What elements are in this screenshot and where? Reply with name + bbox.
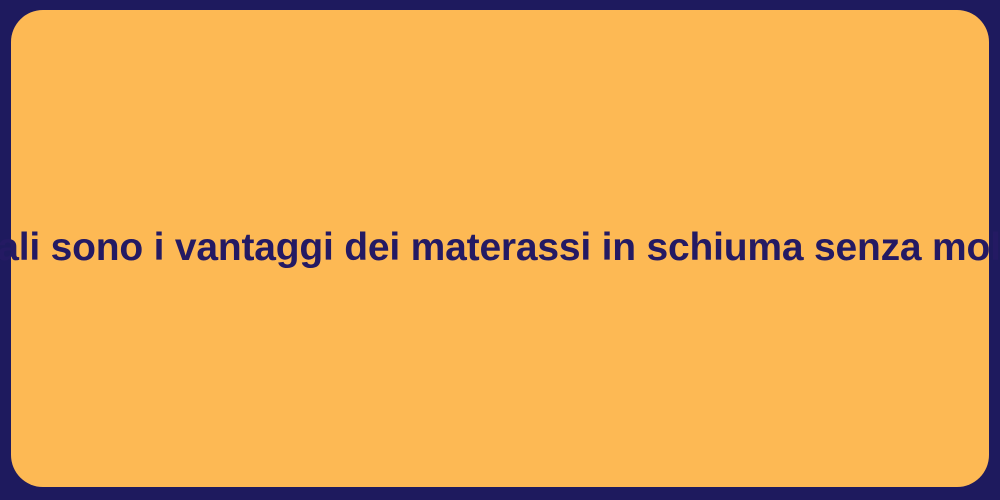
question-card-frame: Quali sono i vantaggi dei materassi in s… <box>0 0 1000 500</box>
question-heading: Quali sono i vantaggi dei materassi in s… <box>0 224 1000 273</box>
question-card-panel: Quali sono i vantaggi dei materassi in s… <box>11 10 989 487</box>
